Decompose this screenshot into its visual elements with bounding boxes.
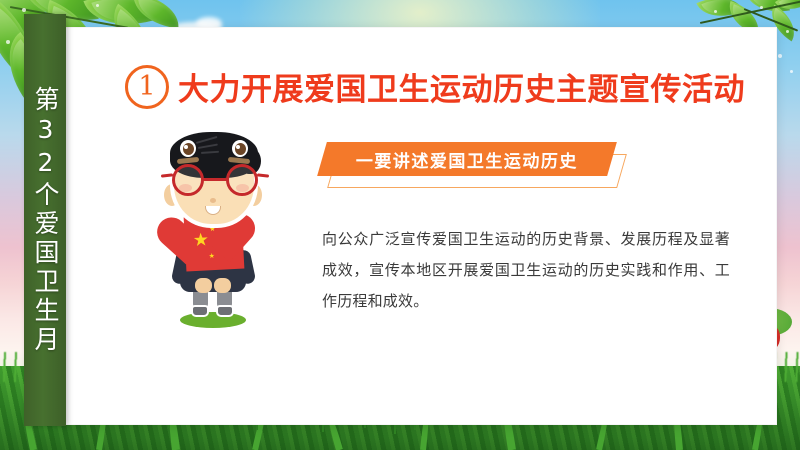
glasses-icon	[172, 164, 258, 198]
slide-root: 第32个爱国卫生月 1 大力开展爱国卫生运动历史主题宣传活动 一要讲述爱国卫生运…	[0, 0, 800, 450]
nose	[210, 198, 216, 203]
side-banner-text: 第32个爱国卫生月	[29, 86, 61, 355]
flag-star-small: ★	[209, 226, 216, 233]
side-banner: 第32个爱国卫生月	[24, 14, 66, 426]
section-number-badge: 1	[125, 65, 169, 109]
page-title-text: 大力开展爱国卫生运动历史主题宣传活动	[178, 64, 745, 109]
hand-right	[214, 278, 231, 293]
flag-star-large: ★	[192, 231, 209, 250]
eye-glint-left	[184, 145, 188, 149]
flag-star-small: ★	[215, 245, 222, 252]
page-title: 1 大力开展爱国卫生运动历史主题宣传活动	[125, 64, 745, 109]
subtitle-text: 一要讲述爱国卫生运动历史	[356, 147, 578, 172]
body-paragraph: 向公众广泛宣传爱国卫生运动的历史背景、发展历程及显著成效，宣传本地区开展爱国卫生…	[322, 224, 730, 316]
flag-star-small: ★	[216, 235, 223, 242]
cartoon-boy-illustration: ★ ★ ★ ★ ★	[152, 132, 276, 342]
hand-left	[195, 278, 212, 293]
flag-star-small: ★	[209, 253, 216, 260]
subtitle-banner: 一要讲述爱国卫生运动历史	[322, 142, 628, 190]
subtitle-banner-fill: 一要讲述爱国卫生运动历史	[317, 142, 617, 176]
eye-glint-right	[236, 145, 240, 149]
